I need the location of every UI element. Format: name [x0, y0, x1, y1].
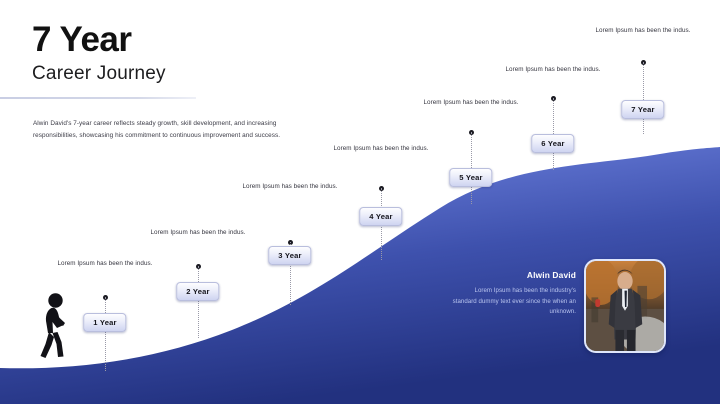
year-badge-6[interactable]: 6 Year [531, 134, 574, 153]
year-badge-3[interactable]: 3 Year [268, 246, 311, 265]
milestone-connector-line [198, 266, 199, 338]
profile-photo [586, 261, 664, 351]
walking-person-icon [38, 292, 72, 360]
page-title: 7 Year [32, 22, 332, 59]
milestone-caption: Lorem Ipsum has been the indus. [144, 228, 252, 238]
year-badge-4[interactable]: 4 Year [359, 207, 402, 226]
year-badge-5[interactable]: 5 Year [449, 168, 492, 187]
profile-description: Lorem Ipsum has been the industry's stan… [452, 286, 576, 318]
profile-name: Alwin David [452, 270, 576, 280]
milestone-caption: Lorem Ipsum has been the indus. [417, 98, 525, 108]
slide-canvas: 7 Year Career Journey Alwin David's 7-ye… [0, 0, 720, 404]
milestone-caption: Lorem Ipsum has been the indus. [236, 182, 344, 192]
heading-block: 7 Year Career Journey [32, 22, 332, 86]
title-divider [0, 97, 196, 99]
milestone-caption: Lorem Ipsum has been the indus. [51, 259, 159, 269]
year-badge-7[interactable]: 7 Year [621, 100, 664, 119]
year-badge-2[interactable]: 2 Year [176, 282, 219, 301]
year-badge-1[interactable]: 1 Year [83, 313, 126, 332]
page-subtitle: Career Journey [32, 63, 332, 86]
profile-photo-frame [584, 259, 666, 353]
profile-block: Alwin David Lorem Ipsum has been the ind… [452, 270, 576, 318]
milestone-caption: Lorem Ipsum has been the indus. [327, 144, 435, 154]
milestone-caption: Lorem Ipsum has been the indus. [499, 65, 607, 75]
milestone-caption: Lorem Ipsum has been the indus. [589, 26, 697, 36]
intro-paragraph: Alwin David's 7-year career reflects ste… [33, 118, 291, 140]
milestone-connector-line [643, 62, 644, 134]
milestone-connector-line [105, 297, 106, 371]
